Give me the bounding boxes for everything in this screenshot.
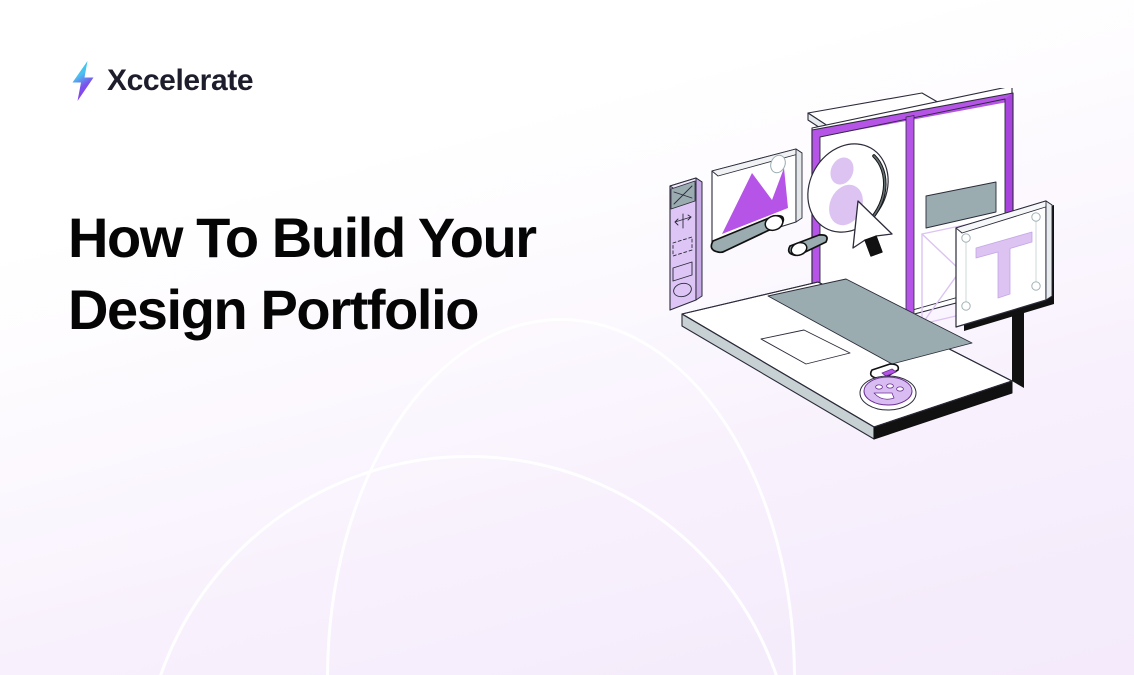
toolbar-panel — [670, 178, 702, 310]
brand-logo[interactable]: Xccelerate — [68, 60, 253, 102]
isometric-laptop-design-tools-illustration — [660, 88, 1072, 468]
hero-banner: Xccelerate How To Build Your Design Port… — [0, 0, 1134, 675]
lightning-bolt-icon — [68, 60, 98, 102]
page-title: How To Build Your Design Portfolio — [68, 202, 628, 346]
brand-wordmark: Xccelerate — [107, 66, 253, 96]
headline-line-1: How To Build Your — [68, 202, 628, 274]
headline-line-2: Design Portfolio — [68, 274, 628, 346]
decorative-circle-large — [141, 455, 796, 675]
